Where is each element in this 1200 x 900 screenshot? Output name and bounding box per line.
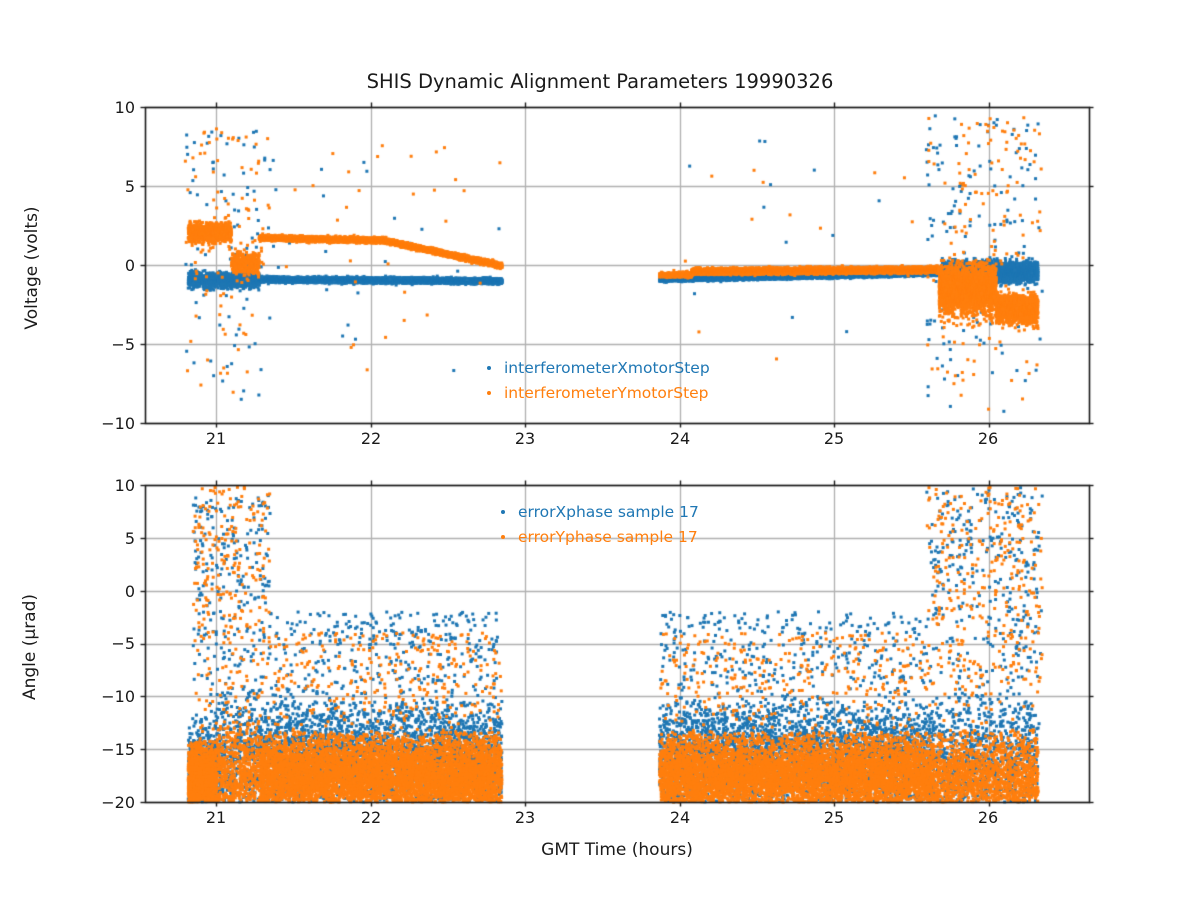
legend-label: interferometerYmotorStep <box>504 384 709 402</box>
legend-marker-icon <box>501 510 505 514</box>
legend-marker-icon <box>501 535 505 539</box>
legend-label: errorYphase sample 17 <box>518 528 698 546</box>
plot-canvas <box>0 0 1200 900</box>
matplotlib-figure: SHIS Dynamic Alignment Parameters 199903… <box>0 0 1200 900</box>
legend-marker-icon <box>487 391 491 395</box>
legend-label: interferometerXmotorStep <box>504 359 710 377</box>
legend-item-interferometer-x-motor-step: interferometerXmotorStep <box>487 359 710 377</box>
legend-item-error-y-phase-sample-17: errorYphase sample 17 <box>501 528 698 546</box>
legend-item-interferometer-y-motor-step: interferometerYmotorStep <box>487 384 709 402</box>
legend-marker-icon <box>487 366 491 370</box>
legend-label: errorXphase sample 17 <box>518 503 699 521</box>
legend-item-error-x-phase-sample-17: errorXphase sample 17 <box>501 503 699 521</box>
